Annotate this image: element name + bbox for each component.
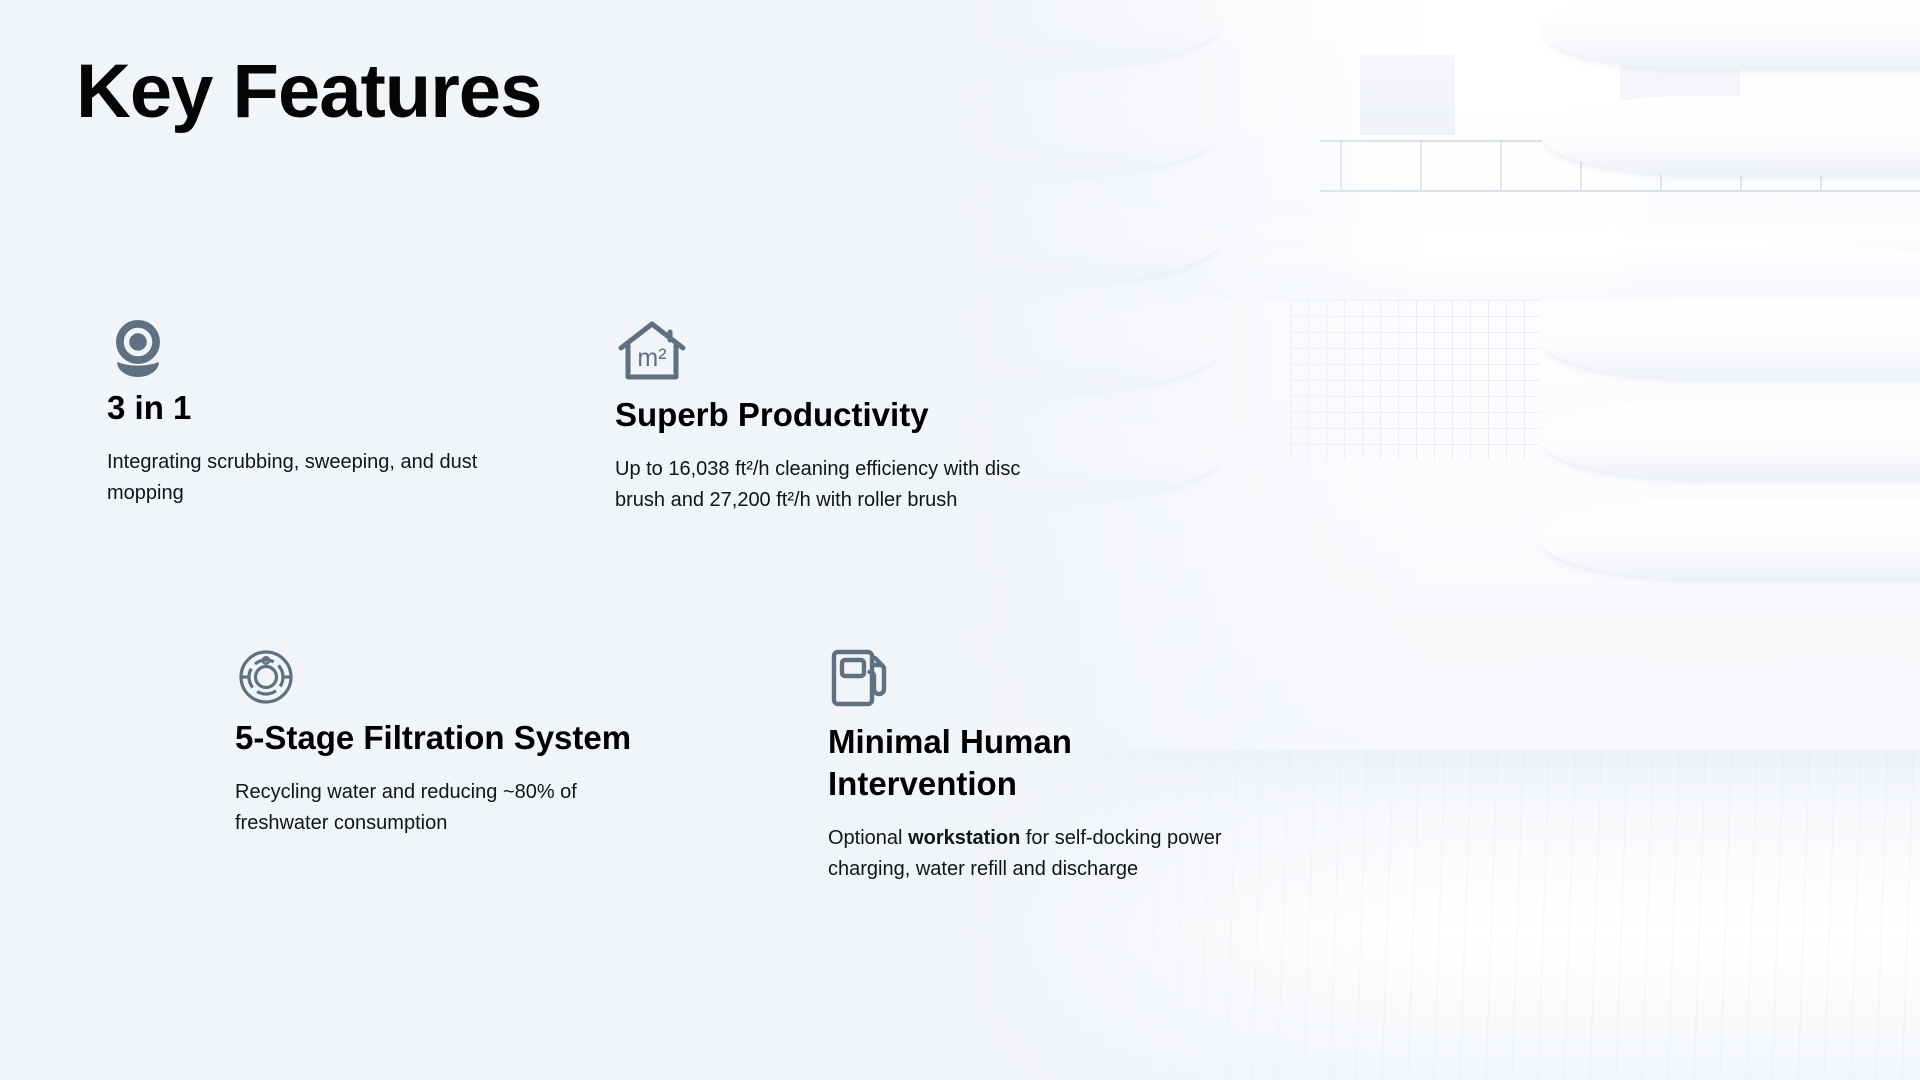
feature-body: Integrating scrubbing, sweeping, and dus… xyxy=(107,447,507,509)
feature-heading: Minimal Human Intervention xyxy=(828,721,1228,805)
product-background-photo: AUTONOMOUS SCRUBBER50 GAUSIUM iMEC xyxy=(820,0,1920,1080)
feature-card-3-in-1: 3 in 1 Integrating scrubbing, sweeping, … xyxy=(107,315,507,509)
feature-body-emphasis: workstation xyxy=(908,827,1020,849)
feature-body: Optional workstation for self-docking po… xyxy=(828,823,1228,885)
house-icon-label: m² xyxy=(637,344,666,372)
feature-body: Recycling water and reducing ~80% of fre… xyxy=(235,777,655,839)
feature-heading: 5-Stage Filtration System xyxy=(235,717,655,759)
filter-rings-icon xyxy=(235,645,297,707)
photo-left-fade-overlay xyxy=(820,0,1920,1080)
feature-heading: Superb Productivity xyxy=(615,394,1045,436)
feature-card-filtration-system: 5-Stage Filtration System Recycling wate… xyxy=(235,645,655,839)
feature-heading: 3 in 1 xyxy=(107,387,507,429)
slide-root: AUTONOMOUS SCRUBBER50 GAUSIUM iMEC xyxy=(0,0,1920,1080)
camera-lens-icon xyxy=(107,315,169,377)
feature-card-superb-productivity: m² Superb Productivity Up to 16,038 ft²/… xyxy=(615,318,1045,516)
feature-body-prefix: Optional xyxy=(828,827,908,849)
fuel-pump-icon xyxy=(828,645,894,711)
feature-body: Up to 16,038 ft²/h cleaning efficiency w… xyxy=(615,454,1045,516)
page-title: Key Features xyxy=(76,48,541,135)
feature-card-minimal-intervention: Minimal Human Intervention Optional work… xyxy=(828,645,1228,885)
house-square-meter-icon: m² xyxy=(615,318,689,384)
